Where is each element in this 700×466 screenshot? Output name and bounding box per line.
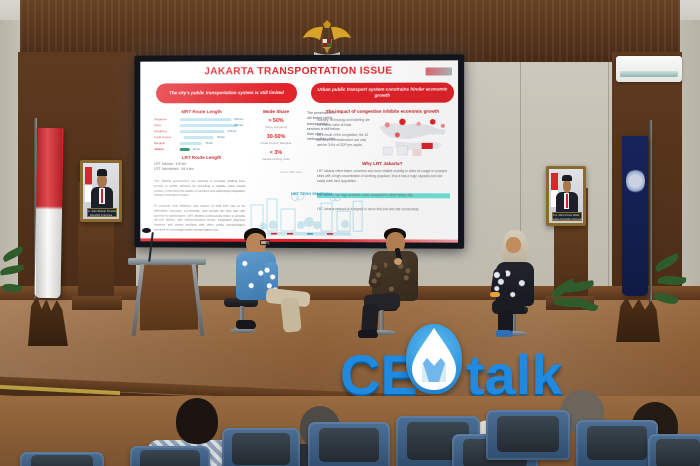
microphone-head-icon (142, 228, 151, 233)
audience-chair[interactable] (308, 422, 390, 466)
mrt-city-label: Jakarta (154, 147, 164, 151)
mrt-city-value: 230 km (234, 117, 243, 121)
panelist-right-held-object (490, 292, 500, 297)
presentation-slide: JAKARTA TRANSPORTATION ISSUE The city's … (140, 60, 458, 242)
mrt-city-label: Hongkong (154, 129, 167, 133)
air-conditioner-icon (616, 56, 682, 82)
portrait-caption-left: Ir. H. Joko Widodo Presiden Republik Ind… (83, 210, 119, 216)
mrt-city-label: Kuala Lumpur (154, 135, 171, 139)
mrt-city-value: 16 km (193, 147, 201, 151)
audience-chair[interactable] (486, 410, 570, 460)
potted-plant-left (0, 240, 30, 320)
flag-shading (36, 128, 62, 298)
slide-title: JAKARTA TRANSPORTATION ISSUE (140, 65, 458, 77)
panelist-left-shin (280, 297, 301, 333)
vice-president-portrait: K.H. Ma'ruf Amin Wakil Presiden Republik… (546, 166, 586, 226)
lectern (140, 261, 198, 330)
mrt-city-value: 96 km (217, 135, 225, 139)
mrt-city-value: 78 km (205, 141, 213, 145)
ceo-logo-droplet (406, 324, 462, 394)
glasses-icon (260, 240, 270, 245)
slide-corner-logo-icon (426, 67, 452, 75)
mode-share-value: < 3% (251, 150, 301, 156)
slide-banner-right: Urban public transport system constrains… (311, 83, 454, 103)
potted-plant-far-right (652, 250, 692, 320)
panelist-left (222, 228, 314, 338)
garuda-pancasila-emblem-icon (300, 14, 354, 60)
mrt-city-label: Bangkok (154, 141, 165, 145)
projection-screen: JAKARTA TRANSPORTATION ISSUE The city's … (134, 54, 464, 248)
panelist-left-shoe (236, 320, 256, 329)
mode-share-label: Kuala Lumpur, Bangkok (247, 141, 305, 145)
slide-why-heading: Why LRT Jakarta? (315, 161, 450, 166)
panelist-center-hand (394, 258, 402, 265)
slide-paragraph: The Jakarta government are working to pr… (154, 179, 245, 198)
ceo-talk-logo: CE talk (340, 318, 580, 400)
slide-mrt-heading: MRT Route Length (154, 109, 249, 114)
impact-bullet: As a result of the congestion, the 16 km… (317, 133, 371, 147)
audience-chair[interactable] (648, 434, 700, 466)
panelist-right-head (506, 237, 521, 253)
slide-banner-left: The city's public transportation system … (156, 83, 297, 103)
mode-share-value: > 50% (251, 118, 301, 124)
conference-room-photo: JAKARTA TRANSPORTATION ISSUE The city's … (0, 0, 700, 466)
mode-share-label: Tokyo, Hongkong (247, 125, 305, 129)
impact-bullet: Industry, technology and ticketing are t… (317, 118, 371, 128)
mrt-city-label: Singapore (154, 117, 167, 121)
portrait-stand-base-left (72, 296, 122, 310)
why-bullet: LRT Jakarta offers faster, smoother and … (317, 169, 450, 184)
mode-share-value: 30-50% (251, 134, 301, 140)
audience-chair[interactable] (130, 446, 210, 466)
slide-source-note: Source: MRT Data (261, 171, 321, 175)
mrt-city-label: Tokyo (154, 123, 161, 127)
slide-mode-share-heading: Mode Share (251, 109, 301, 114)
audience-member-head (176, 398, 218, 444)
president-portrait: Ir. H. Joko Widodo Presiden Republik Ind… (80, 160, 122, 222)
audience-chair[interactable] (222, 428, 300, 466)
audience-chair[interactable] (20, 452, 104, 466)
indonesia-map-graphic (375, 113, 450, 159)
portrait-caption-right: K.H. Ma'ruf Amin Wakil Presiden Republik… (549, 214, 583, 220)
mrt-city-value: 304 km (234, 123, 243, 127)
audience-chair[interactable] (576, 420, 658, 466)
mrt-city-value: 175 km (227, 129, 236, 133)
wall-seam (608, 20, 609, 320)
institutional-flag (622, 136, 648, 296)
institutional-flag-emblem-icon (626, 168, 645, 194)
net-zero-emission-label: NET ZERO EMISSION (291, 191, 332, 196)
mode-share-label: Jakarta existing metro (247, 157, 305, 161)
lrt-row: LRT Jabodebek : 44.4 km (154, 167, 253, 172)
slide-lrt-heading: LRT Route Length (154, 155, 249, 160)
